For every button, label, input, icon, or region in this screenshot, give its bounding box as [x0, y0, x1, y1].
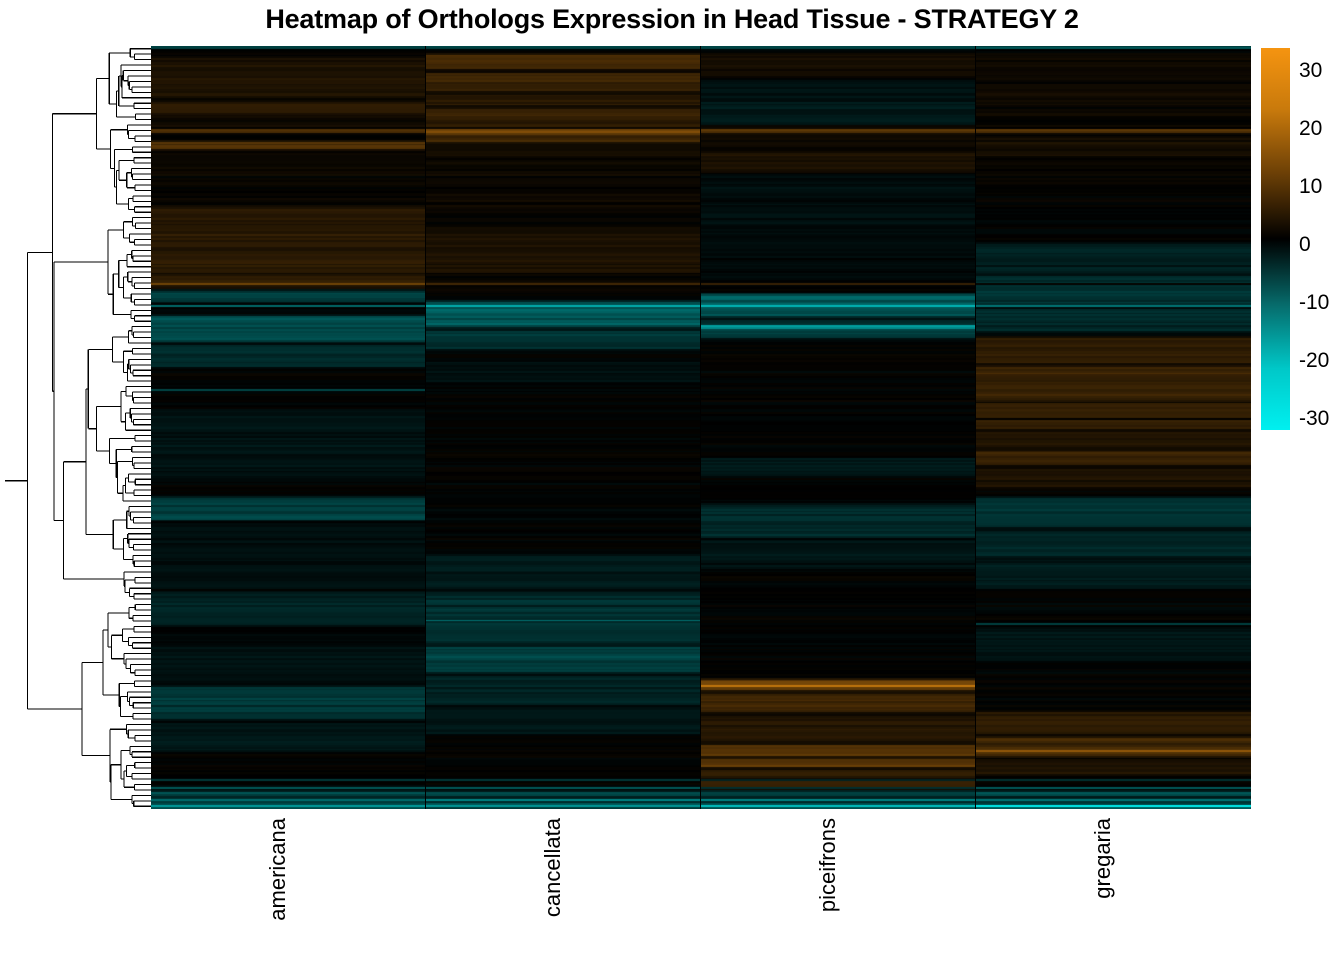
- heatmap-column-cancellata[interactable]: [426, 46, 700, 809]
- heatmap-column-gregaria[interactable]: [976, 46, 1251, 809]
- colorbar-tick-neg20: -20: [1299, 350, 1329, 371]
- colorbar-tick-0: 0: [1299, 234, 1311, 255]
- column-label-cancellata: cancellata: [540, 818, 566, 917]
- dendrogram-path: [5, 49, 152, 807]
- heatmap-column-americana[interactable]: [151, 46, 425, 809]
- colorbar-tick-neg10: -10: [1299, 292, 1329, 313]
- column-label-gregaria: gregaria: [1090, 818, 1116, 899]
- heatmap-figure: Heatmap of Orthologs Expression in Head …: [0, 0, 1344, 960]
- colorbar-tick-10: 10: [1299, 176, 1322, 197]
- colorbar[interactable]: 30 20 10 0 -10 -20 -30: [1261, 48, 1343, 430]
- column-label-piceifrons: piceifrons: [815, 818, 841, 912]
- colorbar-tick-neg30: -30: [1299, 408, 1329, 429]
- page-title: Heatmap of Orthologs Expression in Head …: [0, 4, 1344, 35]
- row-dendrogram: [4, 46, 152, 809]
- heatmap-column-piceifrons[interactable]: [701, 46, 975, 809]
- colorbar-gradient: [1261, 48, 1290, 430]
- heatmap-grid[interactable]: [151, 46, 1251, 809]
- colorbar-tick-20: 20: [1299, 118, 1322, 139]
- colorbar-tick-30: 30: [1299, 60, 1322, 81]
- column-label-americana: americana: [265, 818, 291, 921]
- row-dendrogram-svg: [4, 46, 152, 809]
